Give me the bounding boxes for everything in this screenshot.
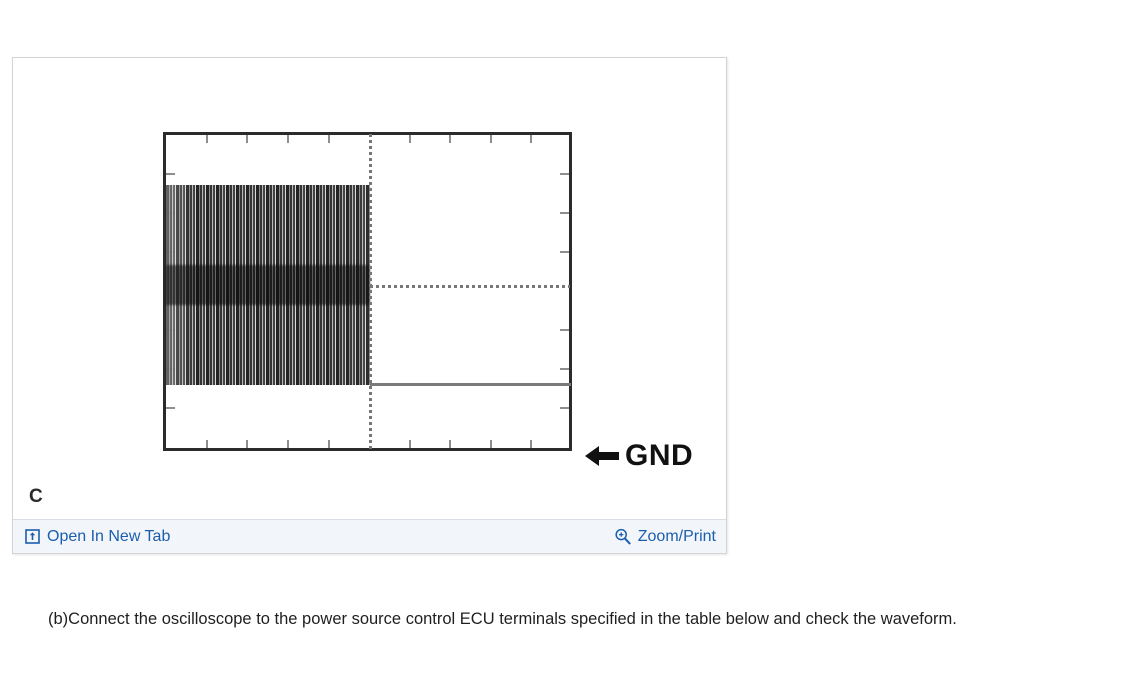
grid-tick-top <box>206 135 208 143</box>
grid-tick-bottom <box>206 440 208 448</box>
cursor-horizontal-dotted-line <box>370 285 570 288</box>
grid-tick-bottom <box>490 440 492 448</box>
waveform-core-band <box>166 265 370 305</box>
grid-tick-top <box>490 135 492 143</box>
grid-tick-right <box>560 173 569 175</box>
grid-tick-top <box>246 135 248 143</box>
figure-corner-letter: C <box>29 486 43 508</box>
grid-tick-top <box>449 135 451 143</box>
gnd-label: GND <box>625 441 693 471</box>
cursor-vertical-dotted-line <box>369 134 372 449</box>
grid-tick-right <box>560 212 569 214</box>
grid-tick-right <box>560 251 569 253</box>
grid-tick-top <box>530 135 532 143</box>
grid-tick-right <box>560 329 569 331</box>
waveform-ground-trace <box>370 383 571 386</box>
figure-image-area: GND C <box>13 58 726 520</box>
magnifier-plus-icon <box>614 528 631 545</box>
grid-tick-top <box>287 135 289 143</box>
grid-tick-left <box>166 407 175 409</box>
figure-toolbar: Open In New Tab Zoom/Print <box>13 519 726 553</box>
oscilloscope-screen <box>163 132 572 451</box>
grid-tick-right <box>560 407 569 409</box>
left-arrow-icon <box>585 445 619 467</box>
oscilloscope-grid <box>166 135 569 448</box>
open-in-new-tab-label: Open In New Tab <box>47 529 170 545</box>
instruction-paragraph: (b)Connect the oscilloscope to the power… <box>12 605 1130 633</box>
grid-tick-right <box>560 368 569 370</box>
open-in-new-tab-icon <box>25 529 40 544</box>
gnd-marker: GND <box>585 441 693 471</box>
zoom-print-button[interactable]: Zoom/Print <box>614 528 716 545</box>
open-in-new-tab-button[interactable]: Open In New Tab <box>25 529 170 545</box>
grid-tick-bottom <box>287 440 289 448</box>
grid-tick-left <box>166 173 175 175</box>
zoom-print-label: Zoom/Print <box>638 529 716 545</box>
grid-tick-bottom <box>246 440 248 448</box>
grid-tick-bottom <box>328 440 330 448</box>
grid-tick-top <box>409 135 411 143</box>
grid-tick-bottom <box>409 440 411 448</box>
grid-tick-top <box>328 135 330 143</box>
grid-tick-bottom <box>530 440 532 448</box>
grid-tick-bottom <box>449 440 451 448</box>
figure-panel: GND C Open In New Tab Zoom/Print <box>12 57 727 554</box>
